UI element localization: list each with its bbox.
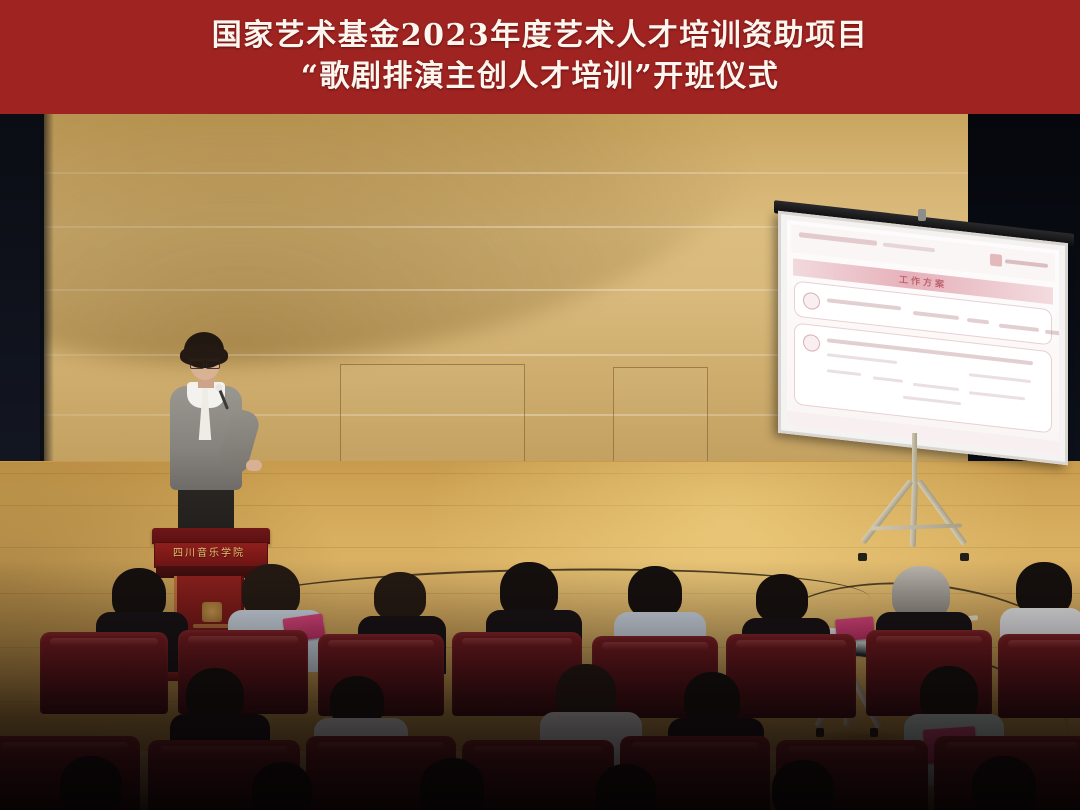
card-text-line bbox=[827, 298, 901, 310]
card-text-line bbox=[999, 324, 1039, 332]
audience-head bbox=[628, 566, 682, 618]
card-text-line bbox=[903, 396, 961, 406]
audience-head bbox=[772, 760, 834, 810]
theater-seat bbox=[998, 634, 1080, 718]
card-text-line bbox=[969, 373, 1031, 383]
screen-hook-icon bbox=[918, 209, 926, 221]
institution-logo bbox=[990, 252, 1048, 275]
card-text-line bbox=[827, 353, 897, 364]
audience-head bbox=[972, 756, 1036, 810]
card-text-line bbox=[967, 318, 989, 324]
event-title-banner: 国家艺术基金2023年度艺术人才培训资助项目 “歌剧排演主创人才培训”开班仪式 bbox=[0, 0, 1080, 114]
event-photo-screenshot: 国家艺术基金2023年度艺术人才培训资助项目 “歌剧排演主创人才培训”开班仪式 bbox=[0, 0, 1080, 810]
presentation-slide: 工作方案 bbox=[787, 220, 1059, 456]
card-text-line bbox=[873, 376, 903, 382]
card-text-line bbox=[827, 338, 1033, 365]
audience-head bbox=[252, 762, 312, 810]
audience-head bbox=[756, 574, 808, 622]
circle-badge-icon bbox=[803, 292, 820, 311]
tripod-leg bbox=[917, 479, 968, 546]
slide-title-text: 工作方案 bbox=[899, 272, 947, 290]
audience-head bbox=[596, 764, 656, 810]
seated-audience bbox=[0, 560, 1080, 810]
speaker-hand bbox=[246, 460, 262, 471]
card-text-line bbox=[827, 369, 861, 376]
wall-seam bbox=[0, 172, 1080, 174]
theater-seat bbox=[462, 740, 614, 810]
slide-breadcrumb-secondary bbox=[883, 243, 935, 253]
logo-wordmark bbox=[1005, 259, 1048, 268]
audience-head bbox=[420, 758, 484, 810]
auditorium-scene: 四川音乐学院 bbox=[0, 114, 1080, 810]
podium-engraved-text: 四川音乐学院 bbox=[152, 544, 266, 559]
theater-seat bbox=[40, 632, 168, 714]
card-text-line bbox=[913, 311, 959, 320]
theater-seat bbox=[726, 634, 856, 718]
tripod-projection-screen: 工作方案 bbox=[778, 227, 1080, 567]
tripod-leg bbox=[910, 481, 918, 547]
tripod-leg bbox=[861, 479, 914, 544]
card-text-line bbox=[913, 383, 959, 391]
card-text-line bbox=[969, 391, 1025, 400]
banner-title-line-2: “歌剧排演主创人才培训”开班仪式 bbox=[301, 56, 780, 98]
eyeglasses-icon bbox=[189, 358, 221, 366]
circle-badge-icon bbox=[803, 334, 820, 353]
ceiling-shadow bbox=[0, 114, 780, 364]
audience-head bbox=[60, 756, 122, 810]
banner-title-line-1: 国家艺术基金2023年度艺术人才培训资助项目 bbox=[212, 16, 869, 56]
logo-mark-icon bbox=[990, 254, 1002, 267]
audience-head bbox=[374, 572, 426, 620]
card-text-line bbox=[1045, 330, 1059, 336]
screen-tripod-stand bbox=[836, 433, 996, 551]
projection-surface: 工作方案 bbox=[778, 211, 1068, 466]
slide-breadcrumb bbox=[799, 232, 877, 246]
